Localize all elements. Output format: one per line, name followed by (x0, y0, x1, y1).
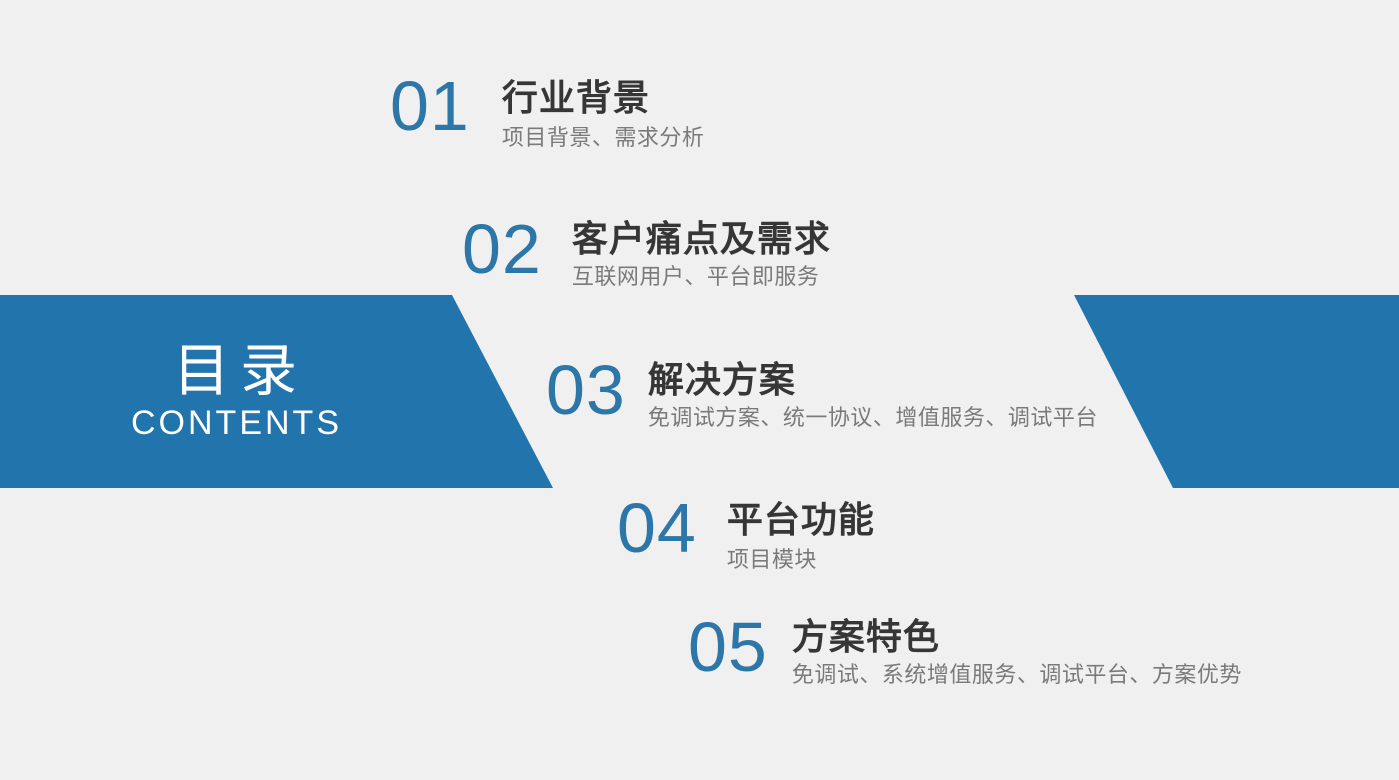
toc-number-04: 04 (617, 494, 697, 563)
toc-number-01: 01 (390, 72, 470, 141)
banner-title-cn: 目录 (163, 342, 307, 402)
banner-shape-right (1074, 295, 1399, 488)
toc-title-04: 平台功能 (727, 499, 875, 540)
toc-number-02: 02 (462, 215, 542, 284)
toc-body-02: 客户痛点及需求 互联网用户、平台即服务 (572, 215, 831, 290)
toc-title-02: 客户痛点及需求 (572, 218, 831, 259)
toc-number-03: 03 (546, 356, 626, 425)
toc-title-05: 方案特色 (792, 616, 1242, 657)
toc-subtitle-05: 免调试、系统增值服务、调试平台、方案优势 (792, 662, 1242, 688)
contents-slide: 目录 CONTENTS 01 行业背景 项目背景、需求分析 02 客户痛点及需求… (0, 0, 1399, 780)
toc-entry-02[interactable]: 02 客户痛点及需求 互联网用户、平台即服务 (462, 215, 831, 290)
toc-title-01: 行业背景 (502, 77, 705, 118)
banner-title-block: 目录 CONTENTS (0, 295, 470, 488)
toc-subtitle-01: 项目背景、需求分析 (502, 125, 705, 151)
toc-subtitle-03: 免调试方案、统一协议、增值服务、调试平台 (648, 405, 1098, 431)
toc-subtitle-04: 项目模块 (727, 547, 875, 573)
toc-body-03: 解决方案 免调试方案、统一协议、增值服务、调试平台 (648, 356, 1098, 431)
toc-entry-05[interactable]: 05 方案特色 免调试、系统增值服务、调试平台、方案优势 (688, 613, 1242, 688)
toc-entry-01[interactable]: 01 行业背景 项目背景、需求分析 (390, 72, 704, 151)
toc-entry-04[interactable]: 04 平台功能 项目模块 (617, 494, 875, 573)
toc-body-01: 行业背景 项目背景、需求分析 (502, 72, 705, 151)
toc-body-05: 方案特色 免调试、系统增值服务、调试平台、方案优势 (792, 613, 1242, 688)
toc-subtitle-02: 互联网用户、平台即服务 (572, 264, 831, 290)
toc-body-04: 平台功能 项目模块 (727, 494, 875, 573)
toc-entry-03[interactable]: 03 解决方案 免调试方案、统一协议、增值服务、调试平台 (546, 356, 1098, 431)
banner-title-en: CONTENTS (128, 406, 342, 442)
toc-number-05: 05 (688, 613, 768, 682)
toc-title-03: 解决方案 (648, 359, 1098, 400)
